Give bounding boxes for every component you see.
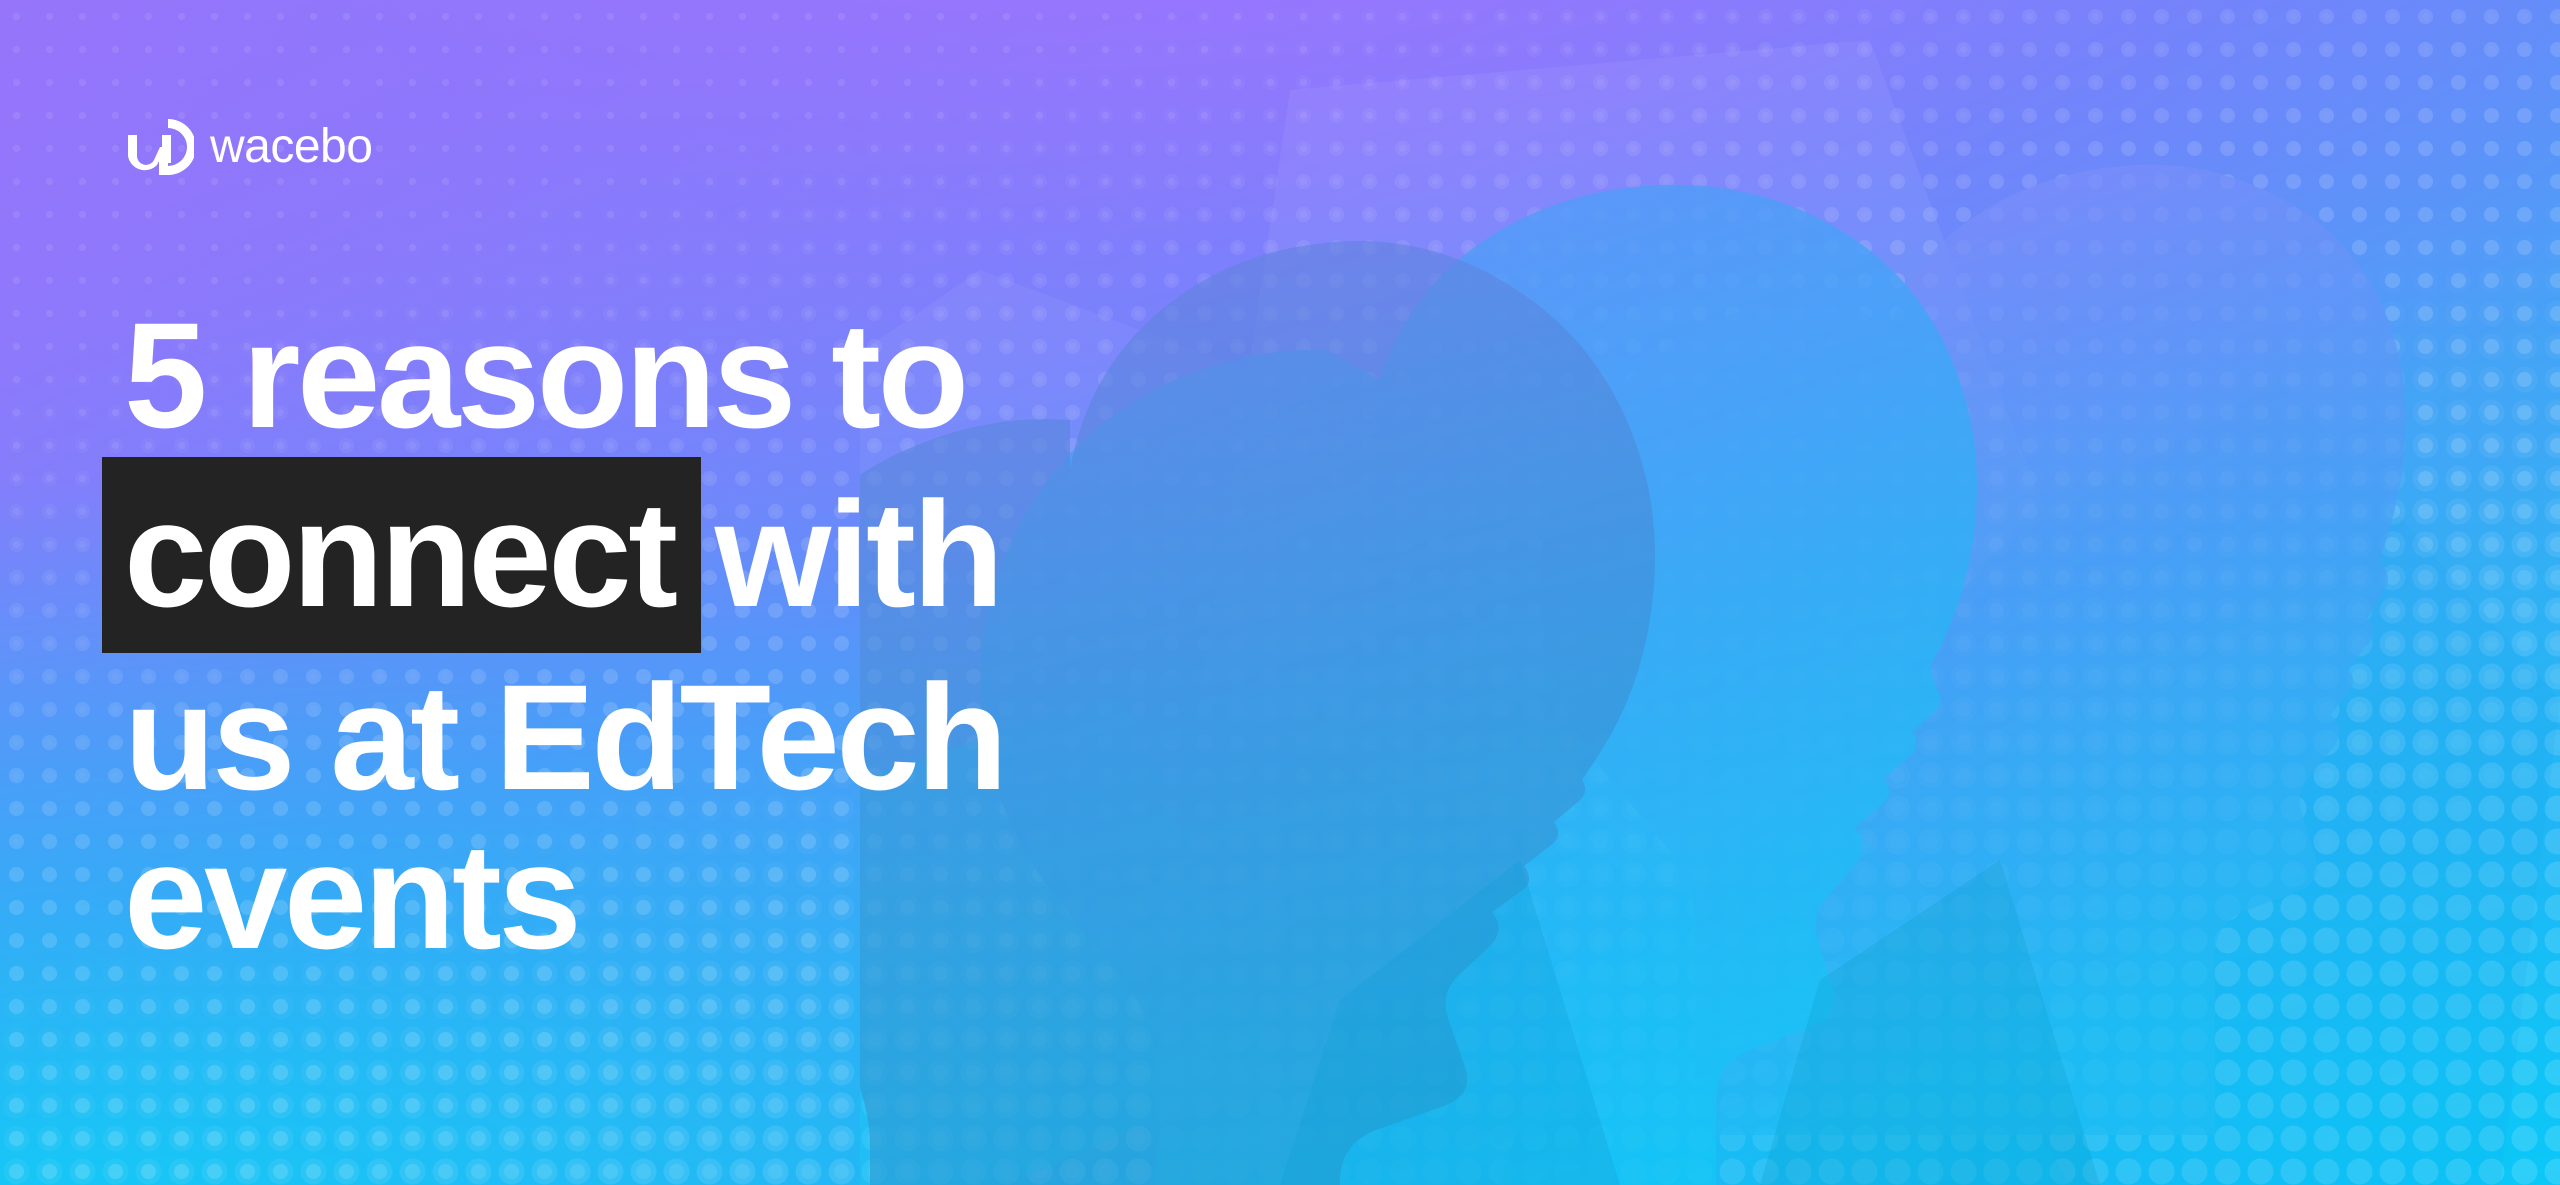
headline-line-3: us at EdTech [124,663,1514,812]
wacebo-w-mark-icon [124,115,194,179]
headline-line-2-rest: with [701,470,1001,638]
headline-line-2: connectwith [124,457,1514,653]
headline-line-4: events [124,822,1514,971]
headline-highlight-connect: connect [102,457,701,653]
promo-banner: wacebo 5 reasons to connectwith us at Ed… [0,0,2560,1185]
headline-line-1: 5 reasons to [124,301,1514,450]
brand-logo-text: wacebo [210,123,372,171]
head-silhouette-back [1539,165,2405,1135]
brand-logo[interactable]: wacebo [124,115,372,179]
page-title: 5 reasons to connectwith us at EdTech ev… [124,301,1514,971]
